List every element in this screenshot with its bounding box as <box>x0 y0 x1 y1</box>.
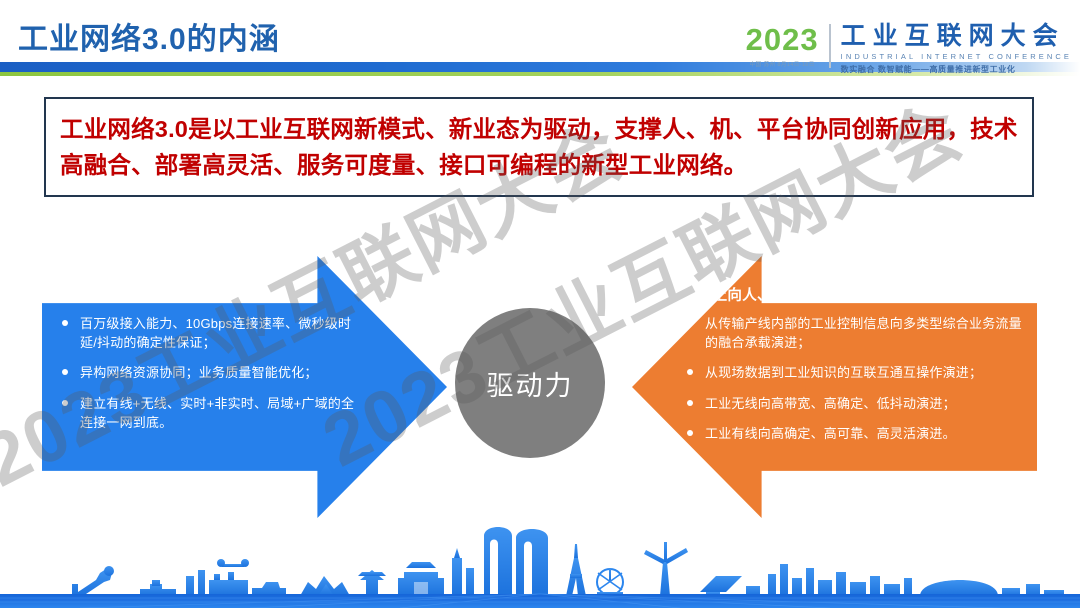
right-arrow-shape: 技术上向人、机、平台全互联演进： 从传输产线内部的工业控制信息向多类型综合业务流… <box>632 256 1037 518</box>
page-title: 工业网络3.0的内涵 <box>18 14 280 58</box>
skyline-grid-lines <box>0 594 1080 608</box>
slide-canvas: 工业网络3.0的内涵 2023 中国·苏州 8月14日-18日 工业互联网大会 … <box>0 0 1080 608</box>
logo-year-block: 2023 中国·苏州 8月14日-18日 <box>746 24 831 68</box>
logo-year: 2023 <box>746 24 819 55</box>
center-circle-label: 驱动力 <box>487 364 574 403</box>
list-item: 工业有线向高确定、高可靠、高灵活演进。 <box>683 424 1025 443</box>
left-arrow-heading: 业务上以服务质量为核心： <box>58 284 358 305</box>
logo-slogan: 数实融合 数智赋能——高质量推进新型工业化 <box>841 64 1072 75</box>
left-arrow-shape: 业务上以服务质量为核心： 百万级接入能力、10Gbps连接速率、微秒级时延/抖动… <box>42 256 447 518</box>
skyline-decoration <box>0 518 1080 608</box>
conference-logo: 2023 中国·苏州 8月14日-18日 工业互联网大会 INDUSTRIAL … <box>746 24 1072 80</box>
statement-box: 工业网络3.0是以工业互联网新模式、新业态为驱动，支撑人、机、平台协同创新应用，… <box>44 97 1034 197</box>
list-item: 建立有线+无线、实时+非实时、局域+广域的全连接一网到底。 <box>58 394 358 432</box>
right-arrow-bullet-list: 从传输产线内部的工业控制信息向多类型综合业务流量的融合承载演进； 从现场数据到工… <box>683 314 1025 443</box>
skyline-buildings <box>72 527 1064 596</box>
center-circle: 驱动力 <box>455 308 605 458</box>
left-arrow-content: 业务上以服务质量为核心： 百万级接入能力、10Gbps连接速率、微秒级时延/抖动… <box>58 284 358 443</box>
list-item: 从现场数据到工业知识的互联互通互操作演进； <box>683 363 1025 382</box>
list-item: 工业无线向高带宽、高确定、低抖动演进； <box>683 394 1025 413</box>
list-item: 异构网络资源协同；业务质量智能优化； <box>58 363 358 382</box>
logo-name-chinese: 工业互联网大会 <box>841 24 1072 49</box>
left-arrow-bullet-list: 百万级接入能力、10Gbps连接速率、微秒级时延/抖动的确定性保证； 异构网络资… <box>58 314 358 432</box>
skyline-ground <box>0 594 1080 608</box>
logo-year-subtitle: 中国·苏州 8月14日-18日 <box>750 60 815 68</box>
right-arrow-heading: 技术上向人、机、平台全互联演进： <box>683 284 1025 305</box>
logo-text-block: 工业互联网大会 INDUSTRIAL INTERNET CONFERENCE 数… <box>831 24 1072 75</box>
logo-name-english: INDUSTRIAL INTERNET CONFERENCE <box>841 52 1072 61</box>
right-arrow-content: 技术上向人、机、平台全互联演进： 从传输产线内部的工业控制信息向多类型综合业务流… <box>683 284 1025 454</box>
list-item: 从传输产线内部的工业控制信息向多类型综合业务流量的融合承载演进； <box>683 314 1025 352</box>
statement-text: 工业网络3.0是以工业互联网新模式、新业态为驱动，支撑人、机、平台协同创新应用，… <box>46 111 1032 184</box>
list-item: 百万级接入能力、10Gbps连接速率、微秒级时延/抖动的确定性保证； <box>58 314 358 352</box>
